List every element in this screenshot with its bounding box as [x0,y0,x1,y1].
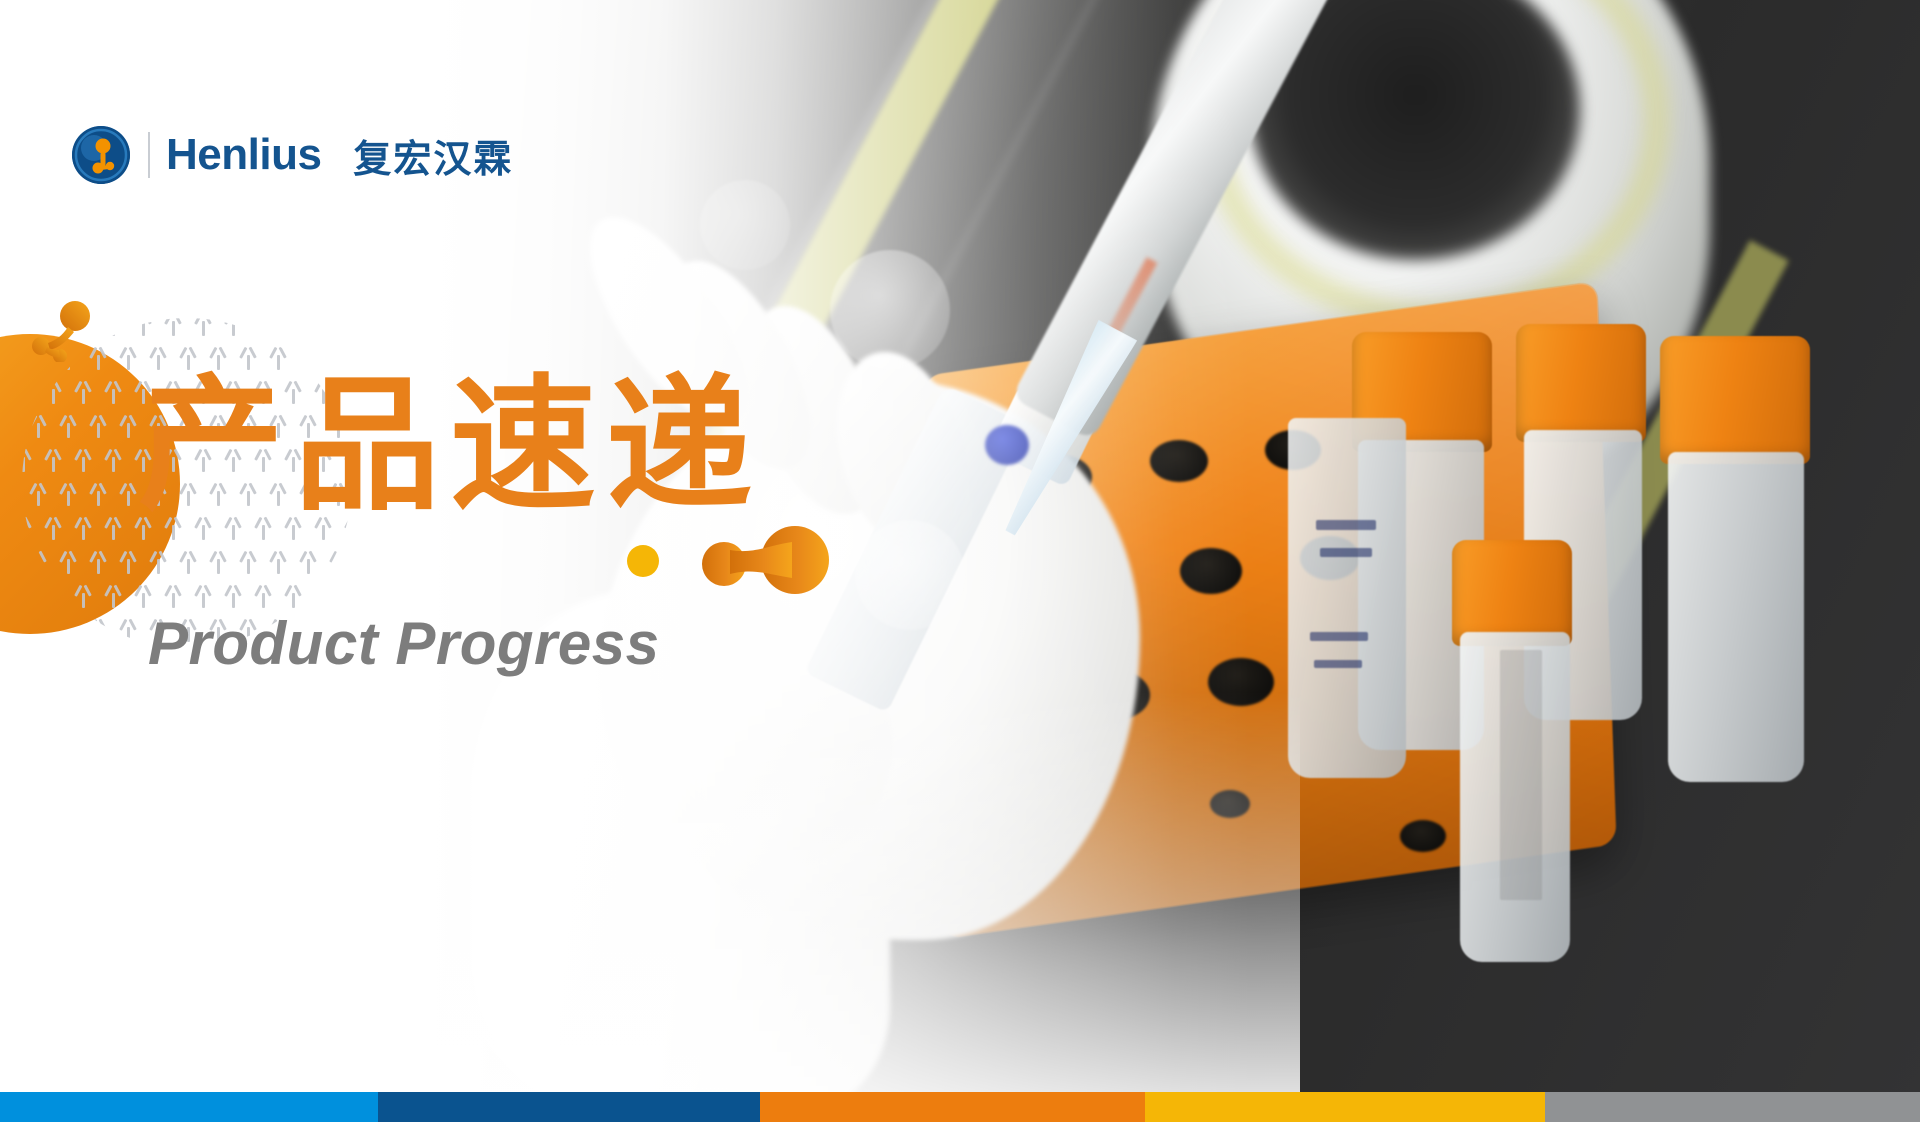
henlius-molecule-mark-icon [72,126,130,184]
tube-cap [1452,540,1572,646]
yellow-dot-decoration [627,545,659,577]
tube-body [1668,452,1804,782]
antibody-glyph [147,548,169,574]
antibody-glyph [117,344,139,370]
bottom-bar-segment-yellow [1145,1092,1545,1122]
antibody-glyph [117,412,139,438]
logo-divider [148,132,150,178]
antibody-glyph [22,446,34,472]
antibody-glyph [207,548,229,574]
logo-chinese-name: 复宏汉霖 [353,128,513,183]
antibody-glyph [162,318,184,336]
tube-body [1288,418,1406,778]
antibody-glyph [192,318,214,336]
antibody-glyph [22,378,34,404]
antibody-glyph [57,412,79,438]
antibody-glyph [297,548,319,574]
antibody-glyph [72,582,94,608]
tube-handwriting [1314,660,1362,668]
brand-logo[interactable]: Henlius 复宏汉霖 [72,124,513,186]
antibody-glyph [57,480,79,506]
antibody-glyph [87,480,109,506]
bottom-color-bar [0,1092,1920,1122]
bottom-bar-segment-dark-blue [378,1092,760,1122]
antibody-glyph [117,616,139,642]
antibody-glyph [102,514,124,540]
antibody-glyph [237,548,259,574]
antibody-glyph [87,548,109,574]
antibody-glyph [252,318,274,336]
antibody-glyph [222,318,244,336]
antibody-glyph [57,616,79,642]
tube-handwriting [1310,632,1368,641]
antibody-glyph [42,446,64,472]
antibody-glyph [102,378,124,404]
antibody-glyph [27,412,49,438]
antibody-glyph [267,548,289,574]
antibody-glyph [132,582,154,608]
tube-handwriting [1320,548,1372,557]
antibody-glyph [162,582,184,608]
white-gradient-overlay-bottom [0,692,1300,1122]
antibody-glyph [27,480,49,506]
antibody-glyph [27,548,49,574]
antibody-glyph [42,582,64,608]
antibody-glyph [312,318,334,336]
mini-molecule-icon [30,300,100,362]
bottom-bar-segment-gray [1545,1092,1920,1122]
molecule-decoration-icon [700,518,830,602]
logo-wordmark: Henlius [166,130,321,180]
antibody-glyph [117,548,139,574]
antibody-glyph [342,582,352,608]
slide-cover: 产品速递 Product Progress [0,0,1920,1122]
antibody-glyph [22,514,34,540]
antibody-glyph [282,318,304,336]
slide-title-english: Product Progress [148,614,659,674]
slide-title-chinese: 产品速递 [138,373,762,519]
antibody-glyph [102,446,124,472]
antibody-glyph [342,318,352,336]
antibody-glyph [222,582,244,608]
antibody-glyph [132,318,154,336]
antibody-glyph [102,582,124,608]
antibody-glyph [87,412,109,438]
antibody-glyph [117,480,139,506]
rack-hole [1400,820,1446,852]
antibody-glyph [42,514,64,540]
tube-cap [1660,336,1810,464]
antibody-glyph [312,582,334,608]
antibody-glyph [282,582,304,608]
antibody-glyph [177,548,199,574]
antibody-glyph [22,582,34,608]
antibody-glyph [72,446,94,472]
tube-cap [1516,324,1646,442]
antibody-glyph [87,616,109,642]
antibody-glyph [102,318,124,336]
bottom-bar-segment-light-blue [0,1092,378,1122]
antibody-glyph [27,616,49,642]
antibody-glyph [252,582,274,608]
antibody-glyph [72,514,94,540]
tube-scale-marks [1500,650,1542,900]
antibody-glyph [57,548,79,574]
antibody-glyph [327,548,349,574]
tube-handwriting [1316,520,1376,530]
antibody-glyph [72,378,94,404]
antibody-glyph [42,378,64,404]
antibody-glyph [192,582,214,608]
bottom-bar-segment-orange [760,1092,1145,1122]
